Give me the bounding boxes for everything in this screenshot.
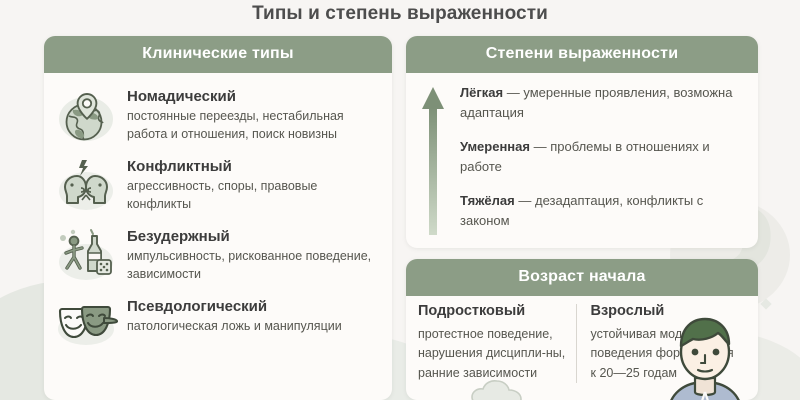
type-text: Конфликтный агрессивность, споры, правов… bbox=[127, 154, 380, 214]
running-bottle-dice-icon bbox=[54, 224, 118, 286]
page-title: Типы и степень выраженности bbox=[0, 3, 800, 25]
globe-pin-icon bbox=[54, 84, 118, 146]
type-title: Конфликтный bbox=[127, 158, 380, 175]
person-avatar-icon bbox=[650, 308, 758, 400]
severity-name: Тяжёлая bbox=[460, 193, 515, 208]
cloud-decoration-icon bbox=[466, 372, 556, 400]
age-of-onset-body: Подростковый протестное поведение, наруш… bbox=[406, 296, 758, 387]
type-description: агрессивность, споры, правовые конфликты bbox=[127, 177, 380, 213]
severity-name: Лёгкая bbox=[460, 85, 503, 100]
age-column-adolescent: Подростковый протестное поведение, наруш… bbox=[418, 304, 576, 383]
clinical-types-body: Номадический постоянные переезды, нестаб… bbox=[44, 73, 392, 367]
list-item: Безудержный импульсивность, рискованное … bbox=[54, 221, 380, 291]
clinical-types-card: Клинические типы Номадический по bbox=[44, 36, 392, 400]
list-item: Номадический постоянные переезды, нестаб… bbox=[54, 81, 380, 151]
severity-header: Степени выраженности bbox=[406, 36, 758, 73]
type-description: патологическая ложь и манипуляции bbox=[127, 317, 380, 335]
list-item: Тяжёлая — дезадаптация, конфликты с зако… bbox=[460, 191, 746, 230]
severity-list: Лёгкая — умеренные проявления, возможна … bbox=[460, 83, 746, 240]
clinical-types-header: Клинические типы bbox=[44, 36, 392, 73]
severity-name: Умеренная bbox=[460, 139, 530, 154]
type-text: Номадический постоянные переезды, нестаб… bbox=[127, 84, 380, 144]
severity-dash: — bbox=[507, 85, 520, 100]
severity-card: Степени выраженности Лёгкая — умеренны bbox=[406, 36, 758, 248]
list-item: Конфликтный агрессивность, споры, правов… bbox=[54, 151, 380, 221]
type-text: Безудержный импульсивность, рискованное … bbox=[127, 224, 380, 284]
list-item: Лёгкая — умеренные проявления, возможна … bbox=[460, 83, 746, 122]
severity-body: Лёгкая — умеренные проявления, возможна … bbox=[406, 73, 758, 244]
up-arrow-icon bbox=[420, 83, 446, 240]
severity-dash: — bbox=[534, 139, 547, 154]
type-description: постоянные переезды, нестабильная работа… bbox=[127, 107, 380, 143]
theatre-masks-icon bbox=[54, 294, 118, 356]
type-title: Псевдологический bbox=[127, 298, 380, 315]
age-of-onset-card: Возраст начала Подростковый протестное п… bbox=[406, 259, 758, 400]
type-text: Псевдологический патологическая ложь и м… bbox=[127, 294, 380, 335]
age-of-onset-header: Возраст начала bbox=[406, 259, 758, 296]
type-title: Безудержный bbox=[127, 228, 380, 245]
age-column-title: Подростковый bbox=[418, 304, 566, 320]
diamond-decoration bbox=[760, 298, 771, 309]
list-item: Умеренная — проблемы в отношениях и рабо… bbox=[460, 137, 746, 176]
severity-dash: — bbox=[518, 193, 531, 208]
type-description: импульсивность, рискованное поведение, з… bbox=[127, 247, 380, 283]
type-title: Номадический bbox=[127, 88, 380, 105]
arguing-heads-icon bbox=[54, 154, 118, 216]
list-item: Псевдологический патологическая ложь и м… bbox=[54, 291, 380, 361]
